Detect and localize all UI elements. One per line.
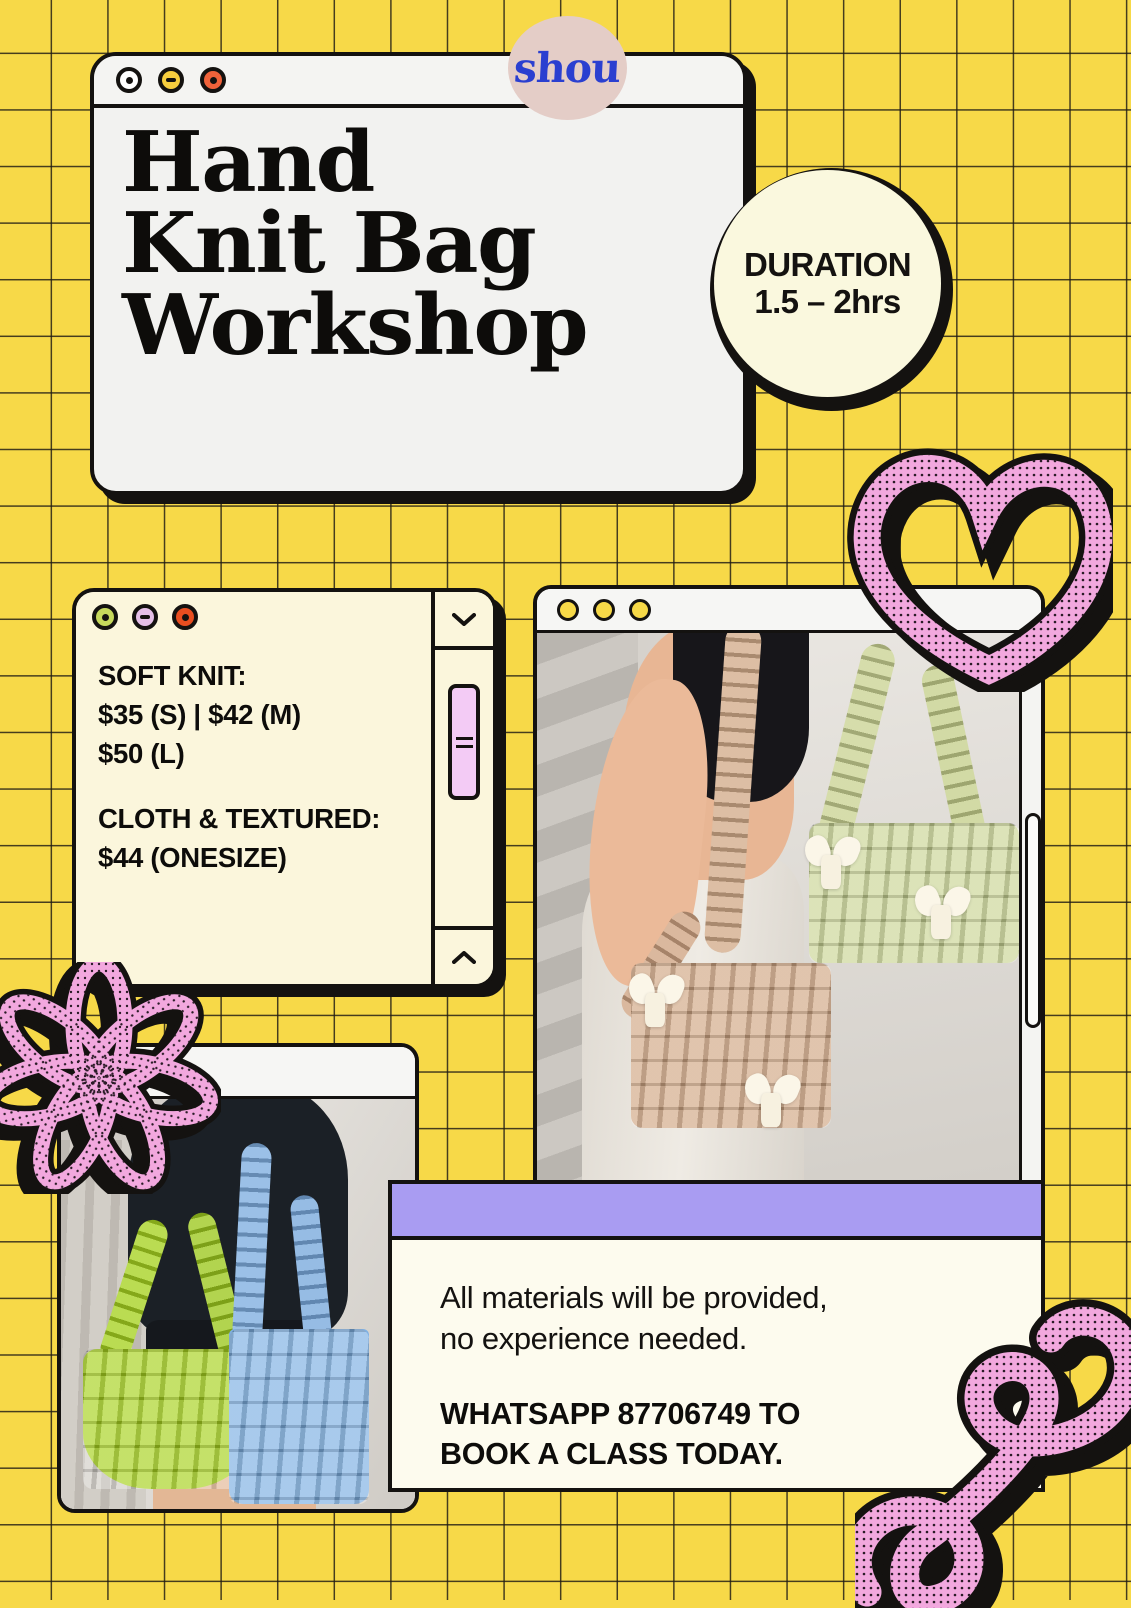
photo-left-image — [61, 1099, 415, 1509]
title-window-titlebar — [94, 56, 743, 108]
pricing-line: $44 (ONESIZE) — [98, 838, 469, 877]
dot-lilac-icon[interactable] — [132, 604, 158, 630]
pricing-line: CLOTH & TEXTURED: — [98, 799, 469, 838]
pricing-line: $35 (S) | $42 (M) — [98, 695, 469, 734]
duration-value: 1.5 – 2hrs — [754, 284, 900, 321]
photo-window-left-titlebar — [61, 1047, 415, 1099]
info-panel: All materials will be provided, no exper… — [388, 1180, 1045, 1492]
duration-badge: DURATION 1.5 – 2hrs — [710, 168, 953, 411]
dot-white-icon[interactable] — [116, 67, 142, 93]
photo-right-scrollbar-thumb[interactable] — [1025, 813, 1041, 1028]
pricing-window: SOFT KNIT: $35 (S) | $42 (M) $50 (L) CLO… — [72, 588, 497, 988]
pricing-scrollbar[interactable] — [431, 592, 493, 984]
pricing-spacer — [98, 773, 469, 799]
title-card-body: Hand Knit Bag Workshop — [94, 108, 743, 495]
scrollbar-up-button[interactable] — [435, 926, 493, 984]
scrollbar-down-button[interactable] — [435, 592, 493, 650]
pricing-line: SOFT KNIT: — [98, 656, 469, 695]
scrollbar-thumb[interactable] — [448, 684, 480, 800]
title-window: Hand Knit Bag Workshop shou — [90, 52, 747, 495]
chevron-down-icon — [452, 613, 476, 626]
photo-window-left — [57, 1043, 419, 1513]
page-title: Hand Knit Bag Workshop — [122, 122, 743, 366]
photo-right-image — [537, 633, 1041, 1195]
dot-orange-icon[interactable] — [172, 604, 198, 630]
info-panel-header — [392, 1184, 1041, 1240]
brand-logo: shou — [508, 16, 627, 120]
dot-yellow-icon[interactable] — [158, 67, 184, 93]
brand-logo-text: shou — [513, 44, 622, 92]
duration-badge-inner: DURATION 1.5 – 2hrs — [714, 170, 941, 397]
dot-yellow-1-icon[interactable] — [557, 599, 579, 621]
dot-orange-icon[interactable] — [200, 67, 226, 93]
photo-window-left-frame — [57, 1043, 419, 1513]
dot-green-icon[interactable] — [92, 604, 118, 630]
dot-yellow-2-icon[interactable] — [593, 599, 615, 621]
pricing-line: $50 (L) — [98, 734, 469, 773]
info-panel-body: All materials will be provided, no exper… — [392, 1240, 1041, 1474]
dot-yellow-3-icon[interactable] — [629, 599, 651, 621]
duration-label: DURATION — [744, 247, 911, 284]
chevron-up-icon — [452, 951, 476, 964]
title-window-frame: Hand Knit Bag Workshop — [90, 52, 747, 495]
photo-right-scrollbar[interactable] — [1019, 633, 1041, 1195]
info-note: All materials will be provided, no exper… — [440, 1278, 1001, 1360]
photo-window-right-titlebar — [537, 589, 1041, 633]
photo-window-right — [533, 585, 1045, 1199]
info-cta: WHATSAPP 87706749 TO BOOK A CLASS TODAY. — [440, 1394, 1001, 1475]
photo-window-right-frame — [533, 585, 1045, 1199]
pricing-window-frame: SOFT KNIT: $35 (S) | $42 (M) $50 (L) CLO… — [72, 588, 497, 988]
